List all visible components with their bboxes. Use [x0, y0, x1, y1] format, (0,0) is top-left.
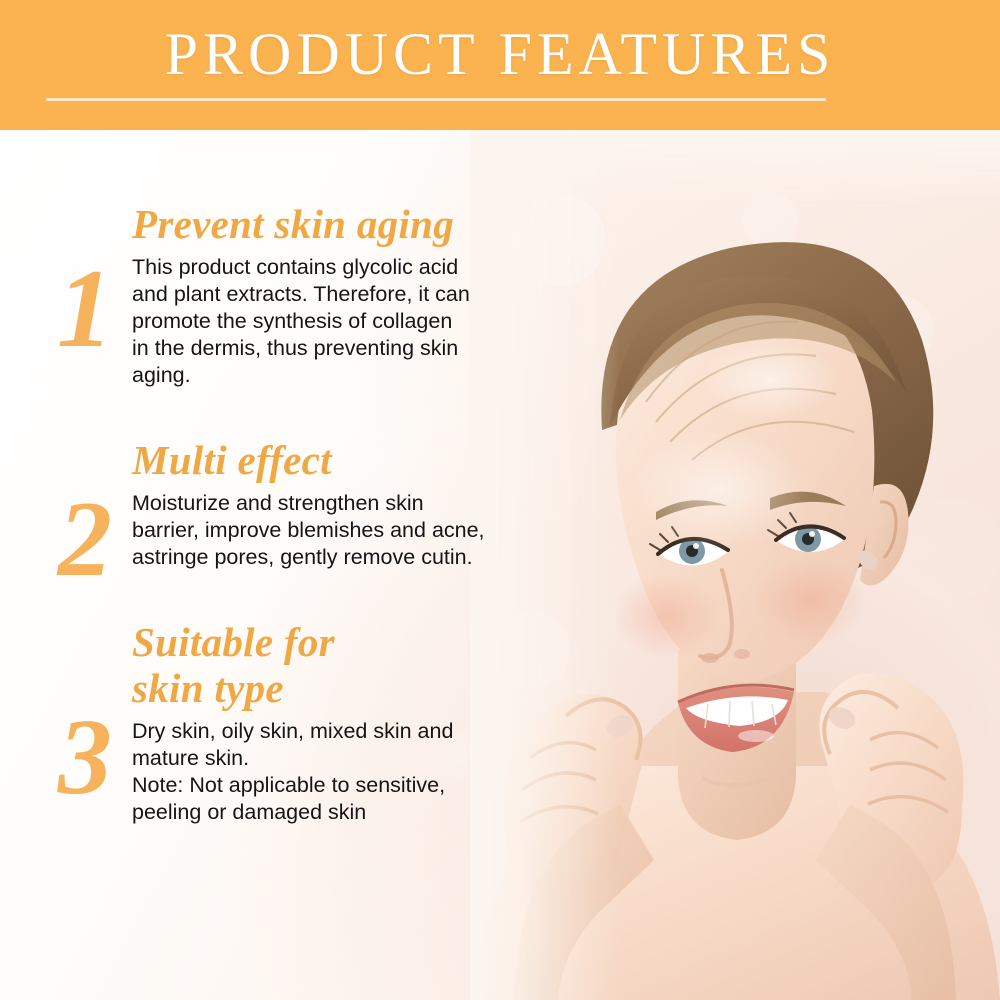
- feature-text-2: Moisturize and strengthen skin barrier, …: [132, 490, 512, 571]
- feature-number-2: 2: [42, 490, 128, 589]
- feature-text-2-line1: Moisturize and strengthen skin: [132, 490, 512, 517]
- feature-list: 1 Prevent skin aging This product contai…: [0, 130, 520, 1000]
- feature-text-1-line2: and plant extracts. Therefore, it can: [132, 281, 512, 308]
- feature-text-3: Dry skin, oily skin, mixed skin and matu…: [132, 718, 512, 826]
- feature-item-1: 1 Prevent skin aging This product contai…: [42, 202, 512, 389]
- feature-heading-3: Suitable for skin type: [132, 620, 512, 712]
- model-illustration: [470, 130, 1000, 1000]
- feature-text-1-line1: This product contains glycolic acid: [132, 254, 512, 281]
- header-banner: PRODUCT FEATURES: [0, 0, 1000, 130]
- feature-text-2-line2: barrier, improve blemishes and acne,: [132, 517, 512, 544]
- feature-text-2-line3: astringe pores, gently remove cutin.: [132, 544, 512, 571]
- feature-body-3: Suitable for skin type Dry skin, oily sk…: [128, 620, 512, 826]
- feature-body-2: Multi effect Moisturize and strengthen s…: [128, 438, 512, 571]
- feature-number-3: 3: [42, 708, 128, 807]
- feature-text-1-line3: promote the synthesis of collagen: [132, 308, 512, 335]
- feature-heading-3-line2: skin type: [132, 666, 512, 712]
- model-photo: [470, 130, 1000, 1000]
- feature-heading-3-line1: Suitable for: [132, 619, 335, 665]
- feature-text-3-line1: Dry skin, oily skin, mixed skin and: [132, 718, 512, 745]
- feature-text-3-line2: mature skin.: [132, 745, 512, 772]
- feature-text-1-line5: aging.: [132, 362, 512, 389]
- feature-item-2: 2 Multi effect Moisturize and strengthen…: [42, 438, 512, 589]
- feature-heading-2-line1: Multi effect: [132, 437, 332, 483]
- feature-text-3-line3: Note: Not applicable to sensitive,: [132, 772, 512, 799]
- feature-item-3: 3 Suitable for skin type Dry skin, oily …: [42, 620, 512, 826]
- feature-body-1: Prevent skin aging This product contains…: [128, 202, 512, 389]
- feature-heading-1-line1: Prevent skin aging: [132, 201, 454, 247]
- feature-text-1-line4: in the dermis, thus preventing skin: [132, 335, 512, 362]
- feature-heading-1: Prevent skin aging: [132, 202, 512, 248]
- feature-number-1: 1: [42, 258, 128, 361]
- feature-text-3-line4: peeling or damaged skin: [132, 799, 512, 826]
- feature-text-1: This product contains glycolic acid and …: [132, 254, 512, 389]
- feature-heading-2: Multi effect: [132, 438, 512, 484]
- title-underline: [46, 98, 826, 101]
- product-features-infographic: PRODUCT FEATURES 1 Prevent skin aging Th…: [0, 0, 1000, 1000]
- page-title: PRODUCT FEATURES: [0, 24, 1000, 84]
